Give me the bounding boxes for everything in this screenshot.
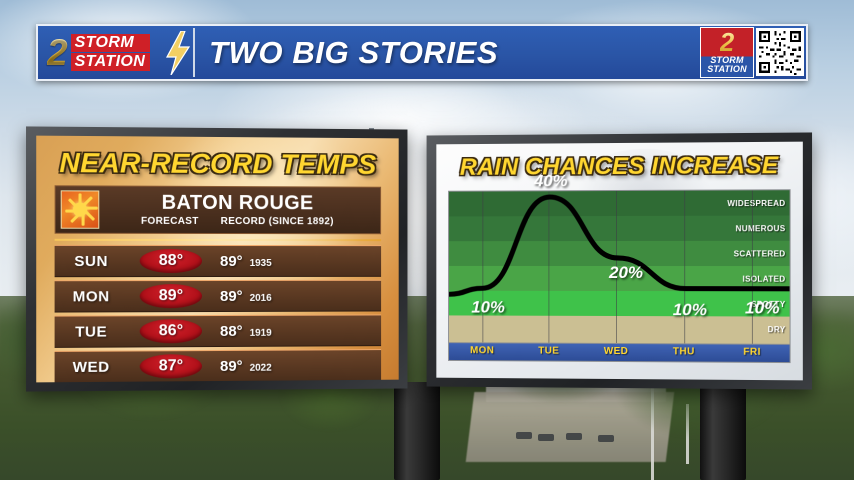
row-day: WED [55,358,128,376]
x-axis-label: WED [604,346,628,357]
x-axis-label: FRI [743,347,761,358]
forecast-pill: 87° [140,354,202,378]
row-forecast: 88° [128,249,214,273]
row-day: SUN [55,252,128,269]
record-year: 1935 [250,258,272,269]
record-value: 89° [220,357,243,374]
chart-x-axis: MONTUEWEDTHUFRI [448,343,791,363]
column-headers: FORECAST RECORD (SINCE 1892) [141,216,334,227]
forecast-pill: 88° [140,249,202,273]
table-row: TUE 86° 88° 1919 [55,314,382,347]
panel-near-record-temps: NEAR-RECORD TEMPS BATON ROUGE FOR [26,126,407,391]
forecast-value: 88° [159,252,183,270]
row-record: 88° 1919 [214,322,381,340]
logo-wordmark: STORM STATION [71,34,151,71]
x-axis-label: THU [673,346,695,357]
record-year: 2022 [250,362,272,373]
panel-content: RAIN CHANCES INCREASE WIDESPREADNUMEROUS… [436,142,802,381]
row-forecast: 87° [128,354,214,379]
record-year: 1919 [250,327,272,338]
data-label: 10% [471,297,504,317]
x-axis-label: TUE [538,346,559,357]
table-row: MON 89° 89° 2016 [55,280,382,313]
right-panel-title: RAIN CHANCES INCREASE [436,152,802,182]
row-forecast: 89° [128,284,214,308]
corner-logo-number: 2 [720,28,734,56]
city-text: BATON ROUGE FORECAST RECORD (SINCE 1892) [99,193,380,228]
record-value: 89° [220,287,243,304]
row-day: MON [55,288,128,305]
forecast-table: SUN 88° 89° 1935 MON 89° [55,245,382,383]
banner-title: TWO BIG STORIES [209,35,498,71]
corner-logo-station: STATION [707,65,747,74]
left-panel-title: NEAR-RECORD TEMPS [36,147,398,181]
logo-number: 2 [47,34,68,71]
col-header-forecast: FORECAST [141,216,199,227]
data-label: 10% [673,300,707,320]
row-day: TUE [55,323,128,340]
logo-line-station: STATION [71,53,151,71]
city-header: BATON ROUGE FORECAST RECORD (SINCE 1892) [55,185,382,234]
row-record: 89° 1935 [214,252,381,269]
billboard-post-center [700,382,746,480]
sun-icon [61,190,100,228]
corner-logo-box: 2 STORM STATION [700,27,754,78]
record-year: 2016 [250,292,272,303]
row-forecast: 86° [128,319,214,343]
data-label: 40% [534,171,568,191]
panel-content: NEAR-RECORD TEMPS BATON ROUGE FOR [36,136,398,383]
rain-chance-chart: WIDESPREADNUMEROUSSCATTEREDISOLATEDSPOTT… [448,189,791,345]
x-axis-label: MON [470,345,494,356]
row-record: 89° 2016 [214,287,381,304]
row-record: 89° 2022 [214,357,381,375]
forecast-value: 89° [159,287,183,305]
record-value: 89° [220,253,243,270]
table-row: WED 87° 89° 2022 [55,349,382,382]
forecast-pill: 89° [140,284,202,308]
forecast-pill: 86° [140,319,202,343]
station-logo: 2 STORM STATION [38,28,195,77]
record-value: 88° [220,322,243,339]
header-banner: 2 STORM STATION TWO BIG STORIES 2 STORM … [36,24,808,81]
forecast-value: 86° [159,322,183,340]
corner-station-logo: 2 STORM STATION [700,27,804,76]
table-row: SUN 88° 89° 1935 [55,245,382,277]
forecast-value: 87° [159,357,183,375]
lightning-bolt-icon [165,31,191,75]
weather-graphic: 2 STORM STATION TWO BIG STORIES 2 STORM … [0,0,854,480]
col-header-record: RECORD (SINCE 1892) [221,216,334,227]
panel-rain-chances: RAIN CHANCES INCREASE WIDESPREADNUMEROUS… [427,132,812,389]
data-label: 10% [745,298,780,318]
billboard-post-left [394,382,440,480]
logo-line-storm: STORM [71,34,151,52]
data-label: 20% [609,263,643,283]
city-name: BATON ROUGE [162,193,314,214]
qr-code-icon[interactable] [756,28,804,76]
